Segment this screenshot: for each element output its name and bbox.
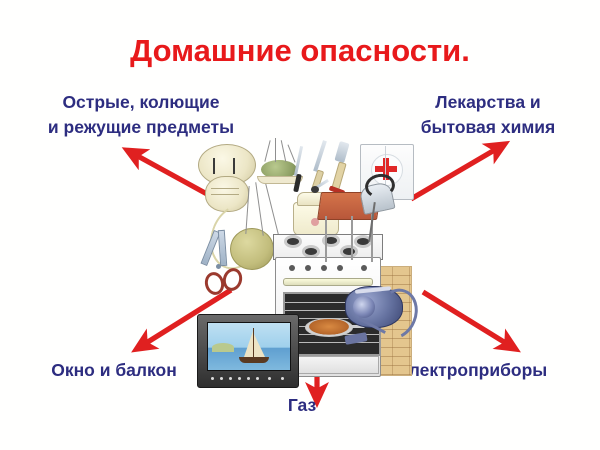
label-window-balcony: Окно и балкон [20,358,208,383]
stove-knob-4[interactable] [337,265,343,271]
stove-knob-2[interactable] [305,265,311,271]
slide-canvas: Домашние опасности. Острые, колющие и ре… [0,0,600,450]
spatula-blade-icon [334,141,349,163]
label-sharp-objects: Острые, колющие и режущие предметы [22,90,260,140]
frying-pan-icon [305,318,353,337]
label-medicine-chemicals-line1: Лекарства и [388,90,588,115]
stove-knob-3[interactable] [321,265,327,271]
tv-sail-left-icon [244,331,253,357]
pot-knob-icon [311,186,319,193]
label-gas: Газ [262,393,342,418]
tv-button-6[interactable] [256,377,259,380]
mixer-slot-icon [211,188,239,189]
mixer-beater-right-icon [233,158,235,174]
tv-island-icon [212,343,234,352]
arrow-to-electric-appliances [423,292,509,345]
tv-screen [207,322,291,371]
tv-button-1[interactable] [211,377,214,380]
pin-4-icon [287,145,295,163]
pin-3-icon [281,140,287,162]
oven-handle-icon[interactable] [283,278,373,286]
tv-button-3[interactable] [229,377,232,380]
tv-mast-icon [253,328,254,358]
mixer-beater-left-icon [213,158,215,174]
label-medicine-chemicals-line2: бытовая химия [388,115,588,140]
arrow-to-medicine-chemicals [411,148,498,199]
label-window-balcony-line1: Окно и балкон [20,358,208,383]
tv-button-2[interactable] [220,377,223,380]
label-medicine-chemicals: Лекарства и бытовая химия [388,90,588,140]
vacuum-lens-icon [353,296,375,318]
tv-button-8[interactable] [281,377,284,380]
yarn-ball-icon [230,228,274,270]
tv-button-5[interactable] [247,377,250,380]
burner-4-icon [305,248,317,255]
label-gas-line1: Газ [262,393,342,418]
scissors-ring-right-icon [220,266,245,293]
home-hazards-collage [185,138,420,386]
tv-button-7[interactable] [268,377,271,380]
pin-2-icon [275,138,276,162]
pin-1-icon [264,140,270,162]
burner-5-icon [343,248,355,255]
mixer-slot2-icon [211,194,239,195]
tv-button-4[interactable] [238,377,241,380]
red-cross-bar-icon [375,166,397,172]
knife-2-blade-icon [313,140,327,172]
table-leg-3 [351,216,353,260]
label-sharp-objects-line2: и режущие предметы [22,115,260,140]
television-icon[interactable] [197,314,299,388]
knitting-needle-3-icon [264,179,279,236]
table-leg-1 [325,216,327,262]
burner-1-icon [287,238,299,245]
stove-knob-5[interactable] [361,265,367,271]
tv-hull-icon [239,357,269,363]
tv-sail-right-icon [254,334,265,357]
scissors-pivot-icon [216,264,221,269]
label-sharp-objects-line1: Острые, колющие [22,90,260,115]
stove-knob-1[interactable] [289,265,295,271]
oven-rack-6 [285,342,379,343]
